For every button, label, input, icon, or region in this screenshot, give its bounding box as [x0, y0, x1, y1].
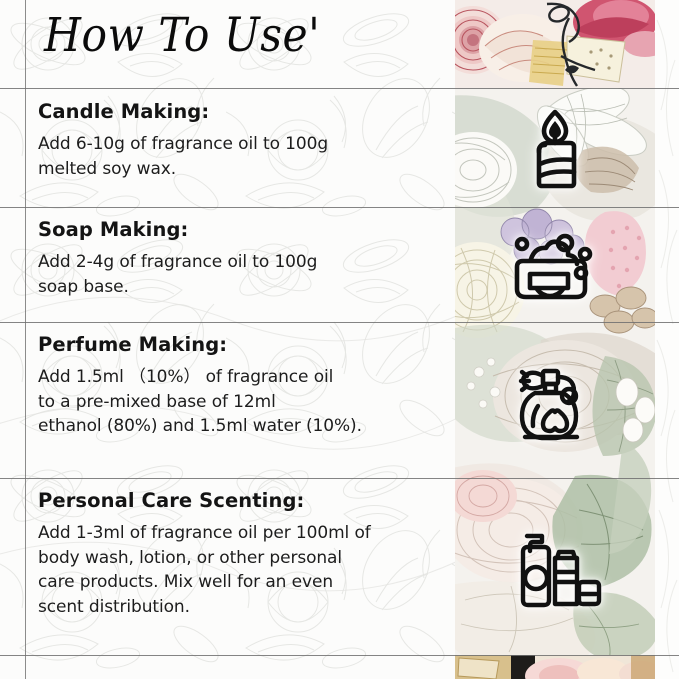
- section-perfume-making: Perfume Making: Add 1.5ml （10%） of fragr…: [38, 333, 438, 439]
- body-line: melted soy wax.: [38, 157, 438, 182]
- body-line: Add 2-4g of fragrance oil to 100g: [38, 250, 438, 275]
- divider-rule-1: [0, 88, 679, 89]
- divider-rule-3: [0, 322, 679, 323]
- page-title: How To Use': [44, 12, 320, 59]
- section-heading: Personal Care Scenting:: [38, 489, 438, 512]
- soap-bar-icon: [455, 225, 655, 315]
- body-line: Add 1-3ml of fragrance oil per 100ml of: [38, 521, 438, 546]
- section-body: Add 6-10g of fragrance oil to 100g melte…: [38, 132, 438, 181]
- body-line: body wash, lotion, or other personal: [38, 546, 438, 571]
- body-line: ethanol (80%) and 1.5ml water (10%).: [38, 414, 438, 439]
- body-line: scent distribution.: [38, 595, 438, 620]
- body-line: care products. Mix well for an even: [38, 570, 438, 595]
- right-paper-margin: [655, 0, 679, 679]
- personal-care-products-icon: [455, 523, 655, 619]
- section-soap-making: Soap Making: Add 2-4g of fragrance oil t…: [38, 218, 438, 299]
- body-line: to a pre-mixed base of 12ml: [38, 390, 438, 415]
- section-heading: Perfume Making:: [38, 333, 438, 356]
- section-candle-making: Candle Making: Add 6-10g of fragrance oi…: [38, 100, 438, 181]
- left-margin-rule: [25, 0, 26, 679]
- divider-rule-2: [0, 207, 679, 208]
- how-to-use-infographic: How To Use' Candle Making: Add 6-10g of …: [0, 0, 679, 679]
- section-body: Add 1.5ml （10%） of fragrance oil to a pr…: [38, 365, 438, 439]
- divider-rule-5: [0, 655, 679, 656]
- section-heading: Soap Making:: [38, 218, 438, 241]
- section-body: Add 1-3ml of fragrance oil per 100ml of …: [38, 521, 438, 620]
- body-line: Add 6-10g of fragrance oil to 100g: [38, 132, 438, 157]
- body-line: Add 1.5ml （10%） of fragrance oil: [38, 365, 438, 390]
- candle-icon: [455, 103, 655, 193]
- section-heading: Candle Making:: [38, 100, 438, 123]
- body-line: soap base.: [38, 275, 438, 300]
- divider-rule-4: [0, 478, 679, 479]
- perfume-bottle-icon: [455, 358, 655, 454]
- section-personal-care-scenting: Personal Care Scenting: Add 1-3ml of fra…: [38, 489, 438, 620]
- title-band: How To Use': [0, 0, 455, 88]
- section-body: Add 2-4g of fragrance oil to 100g soap b…: [38, 250, 438, 299]
